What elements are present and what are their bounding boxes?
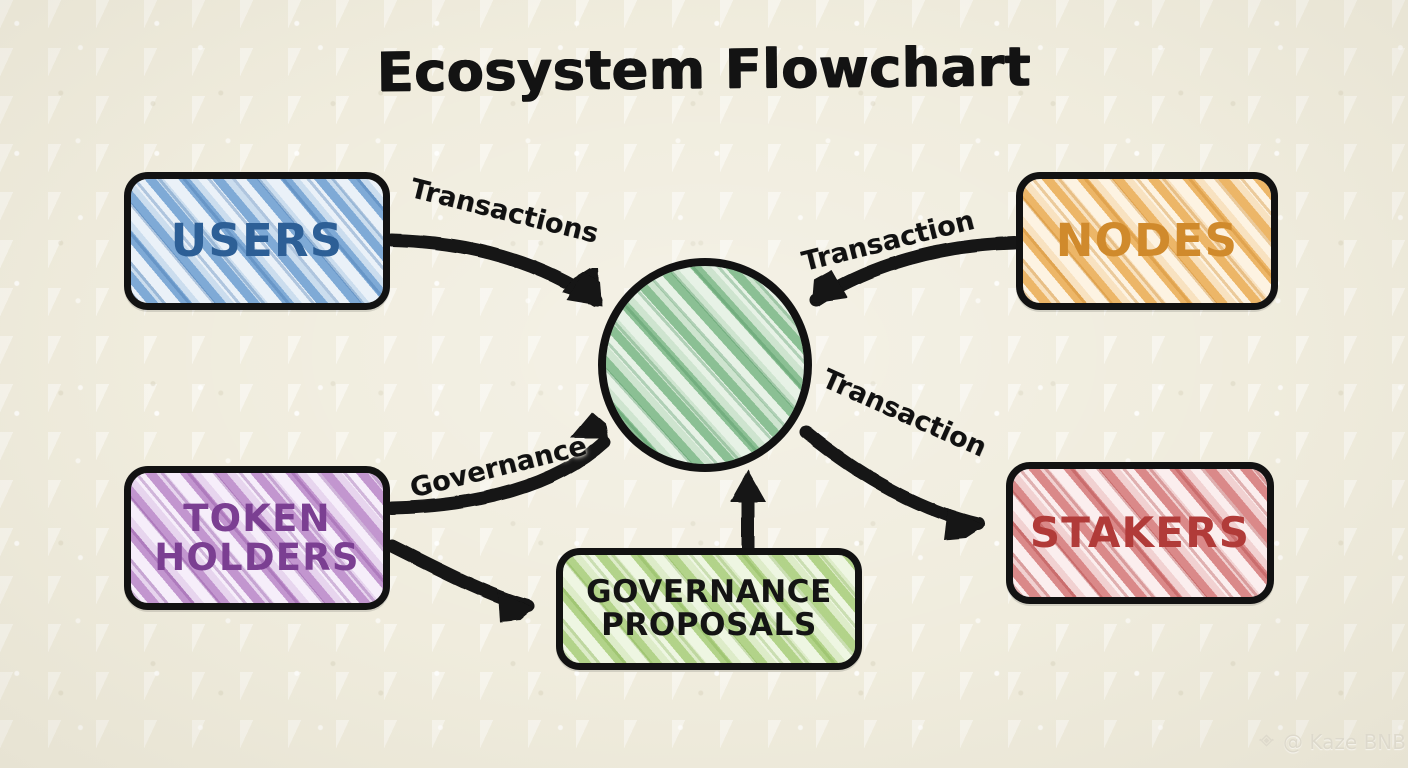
bnb-diamond-icon [1257, 733, 1276, 752]
node-token-holders[interactable]: TOKEN HOLDERS [124, 466, 390, 610]
node-governance-proposals-line1: GOVERNANCE [586, 574, 832, 610]
watermark-handle: @ Kaze BNB [1283, 730, 1406, 754]
edge-label-users-hub: Transactions [407, 173, 601, 250]
node-token-holders-line2: HOLDERS [154, 536, 360, 579]
node-users[interactable]: USERS [124, 172, 390, 310]
node-token-holders-label: TOKEN HOLDERS [154, 499, 360, 577]
node-nodes-label: NODES [1056, 217, 1238, 265]
node-token-holders-line1: TOKEN [183, 497, 331, 540]
watermark: @ Kaze BNB [1257, 730, 1406, 754]
edge-label-nodes-hub: Transaction [799, 205, 978, 278]
node-nodes[interactable]: NODES [1016, 172, 1278, 310]
node-hub-circle[interactable] [598, 258, 812, 472]
edge-label-hub-stakers: Transaction [817, 363, 991, 463]
node-stakers-label: STAKERS [1030, 511, 1250, 556]
node-governance-proposals-label: GOVERNANCE PROPOSALS [586, 576, 832, 642]
crayon-hatch-fill [598, 258, 812, 472]
node-users-label: USERS [171, 217, 344, 265]
node-stakers[interactable]: STAKERS [1006, 462, 1274, 604]
edge-label-token-hub: Governance [407, 431, 590, 505]
page-title: Ecosystem Flowchart [0, 32, 1408, 107]
node-governance-proposals-line2: PROPOSALS [601, 607, 817, 643]
node-governance-proposals[interactable]: GOVERNANCE PROPOSALS [556, 548, 862, 670]
